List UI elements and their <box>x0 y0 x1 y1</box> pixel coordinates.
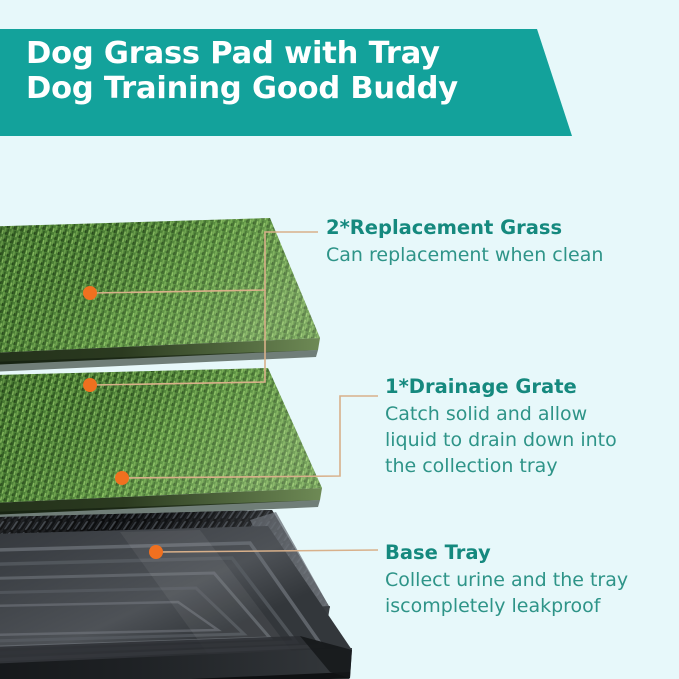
base-tray-body <box>0 526 352 679</box>
page-title: Dog Grass Pad with Tray Dog Training Goo… <box>26 36 546 106</box>
callout-body-base-tray: Collect urine and the tray iscompletely … <box>385 567 628 619</box>
callout-replacement-grass: 2*Replacement Grass Can replacement when… <box>326 216 603 268</box>
callout-title-drainage-grate: 1*Drainage Grate <box>385 375 617 399</box>
callout-body-replacement-grass: Can replacement when clean <box>326 242 603 268</box>
callout-base-tray: Base Tray Collect urine and the tray isc… <box>385 541 628 619</box>
layer-grass-top <box>0 218 320 377</box>
callout-title-base-tray: Base Tray <box>385 541 628 565</box>
callout-body-drainage-grate: Catch solid and allow liquid to drain do… <box>385 401 617 479</box>
callout-title-replacement-grass: 2*Replacement Grass <box>326 216 603 240</box>
callout-drainage-grate: 1*Drainage Grate Catch solid and allow l… <box>385 375 617 479</box>
product-infographic: Dog Grass Pad with Tray Dog Training Goo… <box>0 0 679 679</box>
